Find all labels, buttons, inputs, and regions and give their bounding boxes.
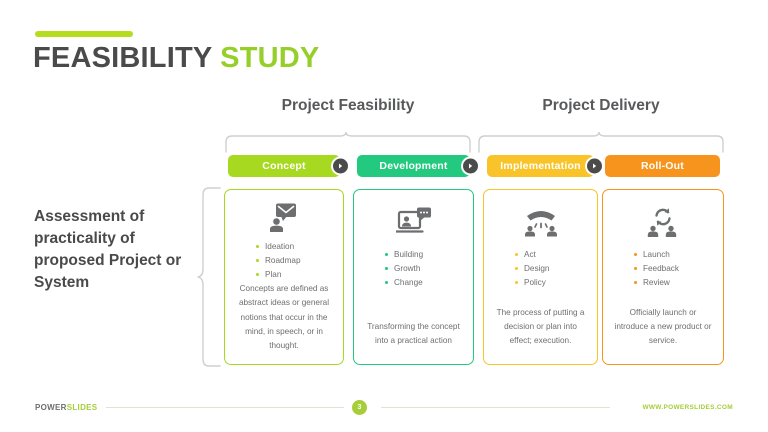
bullet-dot-icon — [385, 281, 388, 284]
group-label-project-delivery: Project Delivery — [477, 97, 725, 115]
message-person-icon — [267, 202, 301, 234]
list-item: Building — [385, 248, 464, 262]
list-item: Plan — [256, 268, 334, 282]
stage-pill-label: Development — [379, 160, 447, 172]
list-item: Ideation — [256, 240, 334, 254]
title-accent-bar — [35, 31, 133, 37]
bullet-dot-icon — [634, 281, 637, 284]
list-item: Launch — [634, 248, 714, 262]
list-item-label: Review — [643, 276, 670, 290]
bullet-dot-icon — [634, 267, 637, 270]
stage-bullet-list: Ideation Roadmap Plan — [234, 240, 334, 282]
footer-divider-right — [381, 407, 610, 408]
group-brace-project-feasibility — [224, 131, 472, 153]
stage-description: The process of putting a decision or pla… — [493, 306, 588, 348]
page-number-badge: 3 — [352, 400, 367, 415]
bullet-dot-icon — [515, 267, 518, 270]
footer-divider-left — [106, 407, 344, 408]
stage-bullet-list: Building Growth Change — [363, 248, 464, 290]
stage-pill-concept[interactable]: Concept — [228, 155, 340, 177]
stage-pill-development[interactable]: Development — [357, 155, 470, 177]
chevron-right-icon[interactable] — [463, 159, 478, 174]
chevron-right-icon[interactable] — [333, 159, 348, 174]
page-title-primary: FEASIBILITY — [33, 42, 220, 74]
sync-people-icon — [646, 202, 680, 242]
list-item: Growth — [385, 262, 464, 276]
list-item-label: Roadmap — [265, 254, 301, 268]
list-item-label: Feedback — [643, 262, 679, 276]
bullet-dot-icon — [515, 281, 518, 284]
list-item-label: Change — [394, 276, 423, 290]
stage-card-implementation[interactable]: Act Design Policy The process of putting… — [483, 189, 598, 365]
list-item-label: Plan — [265, 268, 281, 282]
bullet-dot-icon — [256, 273, 259, 276]
footer-logo-primary: POWER — [35, 403, 67, 412]
list-item-label: Ideation — [265, 240, 294, 254]
group-brace-project-delivery — [477, 131, 725, 153]
list-item-label: Act — [524, 248, 536, 262]
stage-description: Officially launch or introduce a new pro… — [612, 306, 714, 348]
list-item: Policy — [515, 276, 588, 290]
stage-pill-label: Roll-Out — [641, 160, 684, 172]
list-item-label: Building — [394, 248, 423, 262]
bullet-dot-icon — [256, 245, 259, 248]
list-item: Roadmap — [256, 254, 334, 268]
list-item: Act — [515, 248, 588, 262]
stage-bullet-list: Act Design Policy — [493, 248, 588, 290]
bullet-dot-icon — [385, 253, 388, 256]
conference-call-icon — [523, 202, 559, 242]
list-item-label: Launch — [643, 248, 670, 262]
stage-pill-label: Concept — [262, 160, 305, 172]
stage-pill-roll-out[interactable]: Roll-Out — [605, 155, 720, 177]
footer-logo-secondary: SLIDES — [67, 403, 98, 412]
list-item: Design — [515, 262, 588, 276]
chevron-right-icon[interactable] — [587, 159, 602, 174]
list-item: Review — [634, 276, 714, 290]
stage-card-roll-out[interactable]: Launch Feedback Review Officially launch… — [602, 189, 724, 365]
stage-pill-implementation[interactable]: Implementation — [487, 155, 594, 177]
bullet-dot-icon — [256, 259, 259, 262]
left-curly-brace — [196, 186, 222, 368]
page-title-secondary: STUDY — [220, 42, 319, 74]
list-item-label: Growth — [394, 262, 420, 276]
stage-pill-label: Implementation — [500, 160, 580, 172]
group-label-project-feasibility: Project Feasibility — [224, 97, 472, 115]
list-item-label: Design — [524, 262, 550, 276]
stage-description: Transforming the concept into a practica… — [363, 320, 464, 348]
bullet-dot-icon — [385, 267, 388, 270]
stage-bullet-list: Launch Feedback Review — [612, 248, 714, 290]
left-statement: Assessment of practicality of proposed P… — [34, 206, 194, 294]
page-title: FEASIBILITY STUDY — [33, 42, 319, 75]
footer-logo: POWERSLIDES — [35, 403, 97, 412]
stage-card-concept[interactable]: Ideation Roadmap Plan Concepts are defin… — [224, 189, 344, 365]
stage-description: Concepts are defined as abstract ideas o… — [234, 282, 334, 353]
bullet-dot-icon — [515, 253, 518, 256]
list-item-label: Policy — [524, 276, 546, 290]
list-item: Change — [385, 276, 464, 290]
list-item: Feedback — [634, 262, 714, 276]
presentation-chat-icon — [396, 202, 432, 242]
stage-card-development[interactable]: Building Growth Change Transforming the … — [353, 189, 474, 365]
footer-url[interactable]: WWW.POWERSLIDES.COM — [642, 404, 733, 411]
bullet-dot-icon — [634, 253, 637, 256]
